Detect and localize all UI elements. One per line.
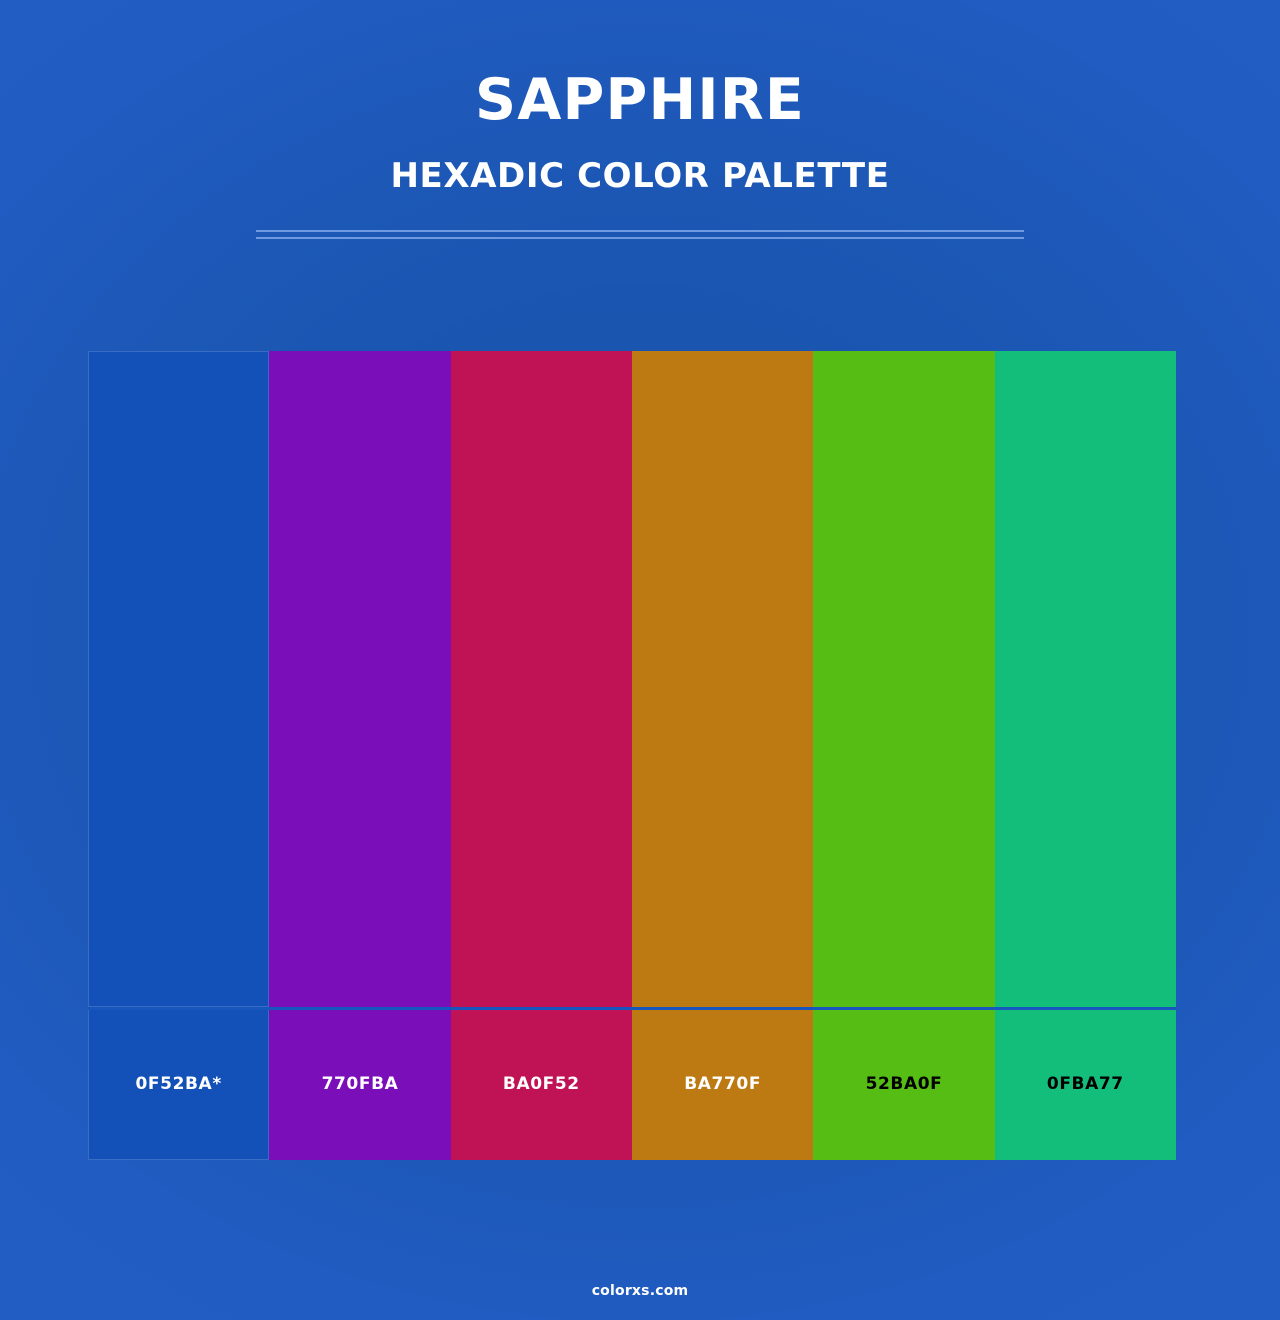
swatch-color-block[interactable] xyxy=(632,351,813,1007)
footer-site-name: colorxs.com xyxy=(0,1283,1280,1299)
swatch-hex-label[interactable]: BA0F52 xyxy=(451,1007,632,1160)
palette-strip: 0F52BA*770FBABA0F52BA770F52BA0F0FBA77 xyxy=(88,351,1176,1160)
swatch-hex-label[interactable]: BA770F xyxy=(632,1007,813,1160)
swatch-hex-label[interactable]: 0F52BA* xyxy=(88,1007,269,1160)
color-palette-page: SAPPHIRE HEXADIC COLOR PALETTE 0F52BA*77… xyxy=(0,0,1280,1320)
swatch-hex-label[interactable]: 770FBA xyxy=(269,1007,450,1160)
swatch-column[interactable]: 0FBA77 xyxy=(995,351,1176,1160)
divider-line-top xyxy=(256,230,1024,232)
swatch-column[interactable]: 0F52BA* xyxy=(88,351,269,1160)
swatch-color-block[interactable] xyxy=(995,351,1176,1007)
swatch-color-block[interactable] xyxy=(88,351,269,1007)
swatch-color-block[interactable] xyxy=(269,351,450,1007)
swatch-hex-label[interactable]: 0FBA77 xyxy=(995,1007,1176,1160)
page-title: SAPPHIRE xyxy=(0,0,1280,129)
swatch-color-block[interactable] xyxy=(813,351,994,1007)
divider-line-bottom xyxy=(256,237,1024,239)
page-subtitle: HEXADIC COLOR PALETTE xyxy=(0,129,1280,193)
swatch-column[interactable]: BA770F xyxy=(632,351,813,1160)
header: SAPPHIRE HEXADIC COLOR PALETTE xyxy=(0,0,1280,193)
swatch-column[interactable]: 52BA0F xyxy=(813,351,994,1160)
swatch-color-block[interactable] xyxy=(451,351,632,1007)
swatch-hex-label[interactable]: 52BA0F xyxy=(813,1007,994,1160)
header-divider xyxy=(256,230,1024,239)
swatch-column[interactable]: 770FBA xyxy=(269,351,450,1160)
swatch-column[interactable]: BA0F52 xyxy=(451,351,632,1160)
